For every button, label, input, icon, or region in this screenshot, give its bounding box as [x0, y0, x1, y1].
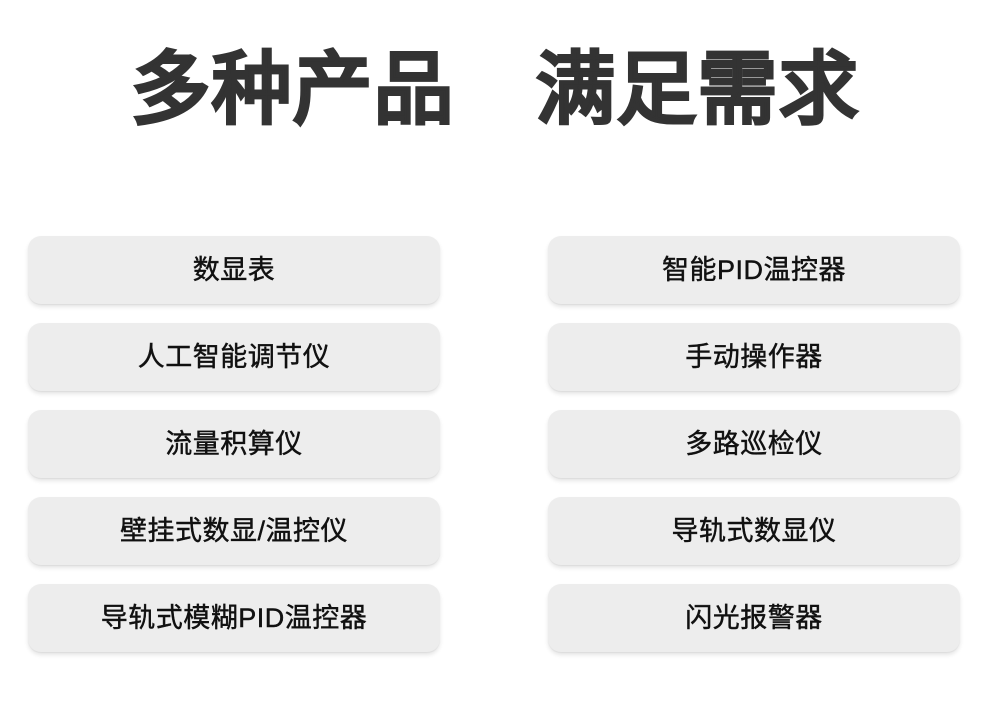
- product-category-page: 多种产品 满足需求 数显表 人工智能调节仪 流量积算仪 壁挂式数显/温控仪 导轨…: [0, 0, 990, 716]
- product-button-multichannel-scanner[interactable]: 多路巡检仪: [548, 410, 960, 478]
- product-button-manual-operator[interactable]: 手动操作器: [548, 323, 960, 391]
- page-title: 多种产品 满足需求: [0, 40, 990, 140]
- product-button-din-rail-fuzzy-pid-controller[interactable]: 导轨式模糊PID温控器: [28, 584, 440, 652]
- product-button-smart-pid-temp-controller[interactable]: 智能PID温控器: [548, 236, 960, 304]
- product-button-ai-regulator[interactable]: 人工智能调节仪: [28, 323, 440, 391]
- product-column-right: 智能PID温控器 手动操作器 多路巡检仪 导轨式数显仪 闪光报警器: [548, 236, 960, 652]
- product-button-din-rail-digital-display[interactable]: 导轨式数显仪: [548, 497, 960, 565]
- product-button-flash-alarm[interactable]: 闪光报警器: [548, 584, 960, 652]
- product-button-wall-mount-display-temp-controller[interactable]: 壁挂式数显/温控仪: [28, 497, 440, 565]
- product-button-shuxianbiao[interactable]: 数显表: [28, 236, 440, 304]
- product-column-left: 数显表 人工智能调节仪 流量积算仪 壁挂式数显/温控仪 导轨式模糊PID温控器: [28, 236, 440, 652]
- product-button-grid: 数显表 人工智能调节仪 流量积算仪 壁挂式数显/温控仪 导轨式模糊PID温控器 …: [28, 236, 960, 652]
- product-button-flow-totalizer[interactable]: 流量积算仪: [28, 410, 440, 478]
